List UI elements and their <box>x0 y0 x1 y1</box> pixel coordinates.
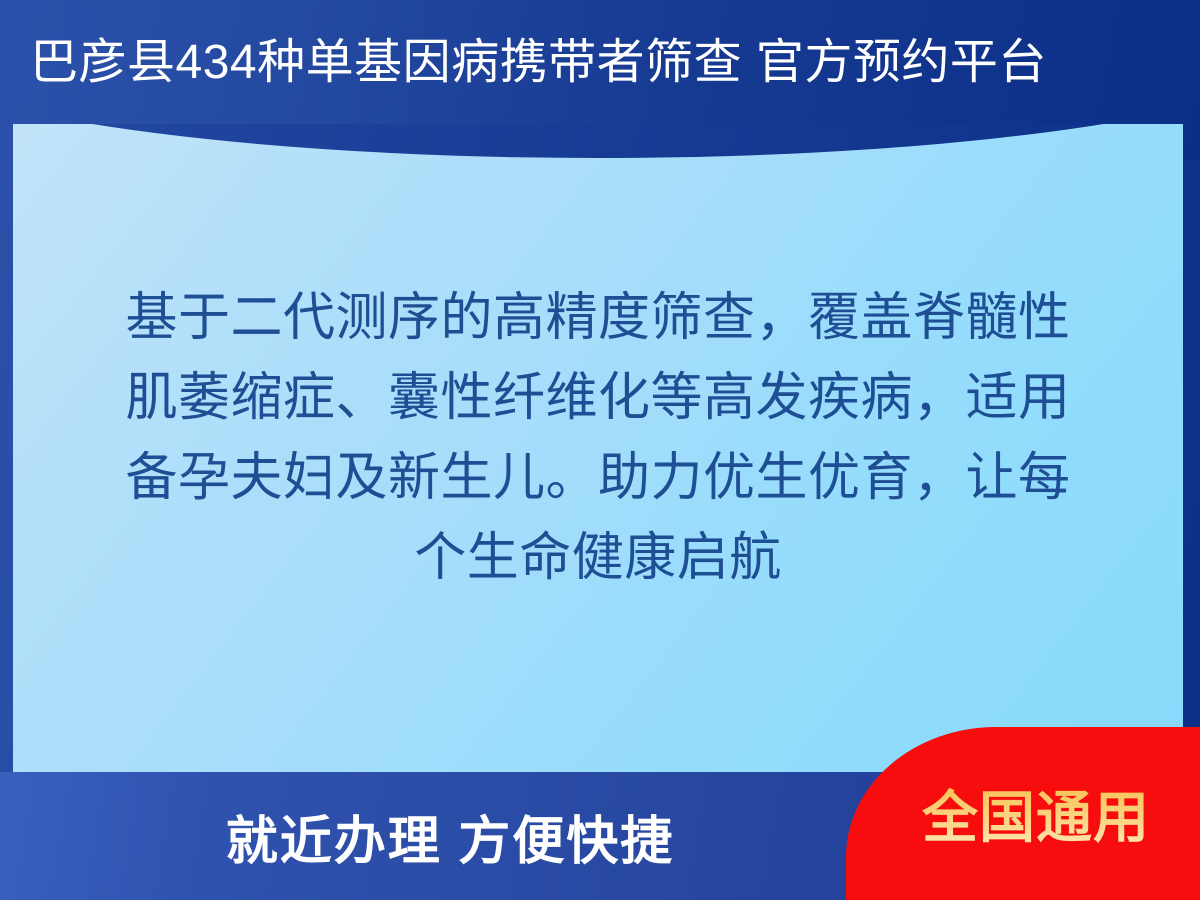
description-text: 基于二代测序的高精度筛查，覆盖脊髓性肌萎缩症、囊性纤维化等高发疾病，适用备孕夫妇… <box>13 278 1183 598</box>
page-title: 巴彦县434种单基因病携带者筛查 官方预约平台 <box>30 34 1180 92</box>
poster-root: 巴彦县434种单基因病携带者筛查 官方预约平台 基于二代测序的高精度筛查，覆盖脊… <box>0 0 1200 900</box>
nationwide-badge: 全国通用 <box>846 727 1200 900</box>
nationwide-badge-label: 全国通用 <box>846 727 1200 900</box>
footer-slogan: 就近办理 方便快捷 <box>0 772 880 900</box>
content-panel: 基于二代测序的高精度筛查，覆盖脊髓性肌萎缩症、囊性纤维化等高发疾病，适用备孕夫妇… <box>13 124 1183 772</box>
